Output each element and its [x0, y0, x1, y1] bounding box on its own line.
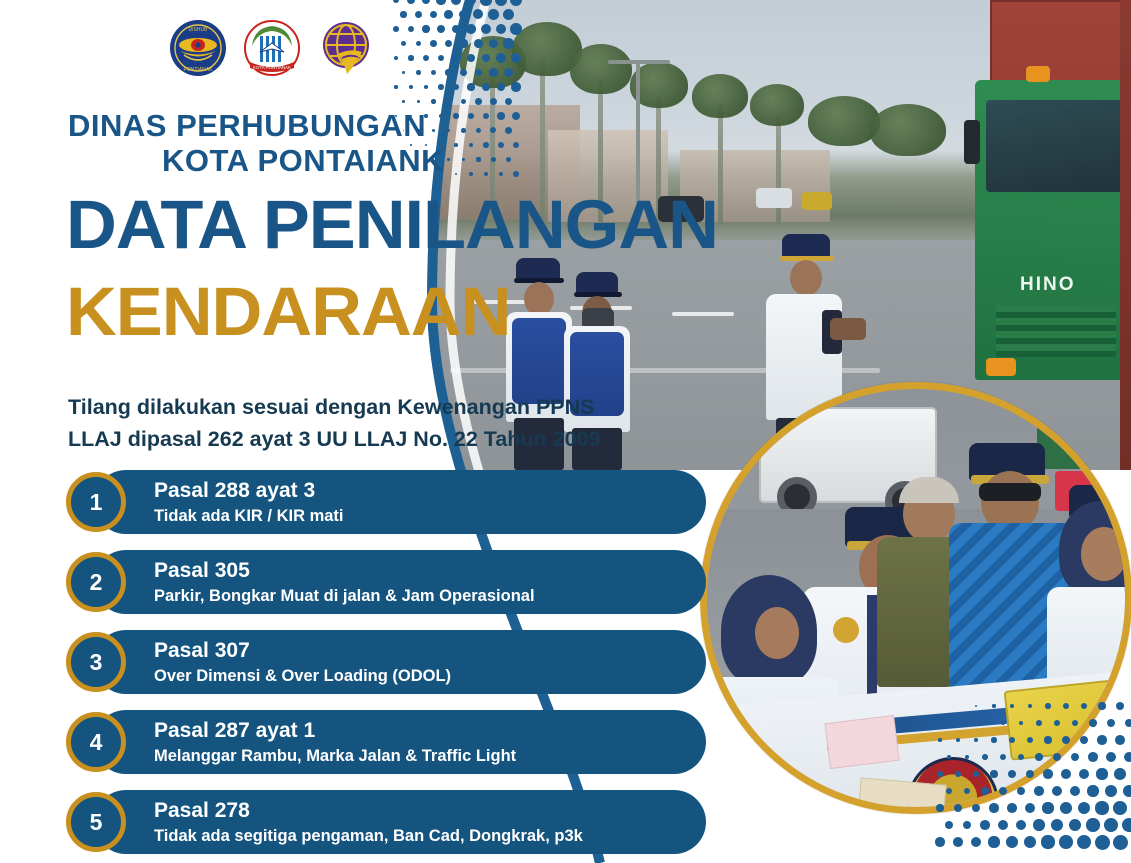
halftone-dot	[1059, 835, 1073, 849]
truck-brand-text: HINO	[1020, 274, 1076, 296]
organisation-name: DINAS PERHUBUNGAN KOTA PONTAIANK	[68, 108, 628, 178]
halftone-dot	[956, 738, 960, 742]
violation-description: Parkir, Bongkar Muat di jalan & Jam Oper…	[154, 586, 694, 607]
halftone-dot	[935, 837, 944, 846]
halftone-dot	[1034, 786, 1043, 795]
halftone-dot	[1098, 702, 1105, 709]
halftone-dot	[1069, 819, 1082, 832]
kota-pontianak-seal-icon: KOTA PONTIANAK	[242, 18, 302, 78]
violation-text: Pasal 305 Parkir, Bongkar Muat di jalan …	[154, 559, 694, 607]
halftone-dot	[1009, 737, 1015, 743]
halftone-dot	[1086, 818, 1099, 831]
halftone-dot	[964, 788, 971, 795]
page-title-line-1: DATA PENILANGAN	[66, 192, 718, 258]
dishub-patroli-emblem-icon: DISHUB PONTIANAK	[168, 18, 228, 78]
halftone-dot	[1025, 803, 1035, 813]
halftone-dot	[1113, 835, 1128, 850]
halftone-dot	[1054, 720, 1060, 726]
violation-pasal: Pasal 307	[154, 639, 694, 664]
halftone-dot	[1060, 802, 1072, 814]
halftone-dot	[992, 704, 995, 707]
halftone-dot	[953, 837, 963, 847]
halftone-dot	[1123, 785, 1131, 798]
poster-canvas: HINO	[0, 0, 1131, 863]
halftone-dot	[1125, 719, 1131, 728]
violation-description: Over Dimensi & Over Loading (ODOL)	[154, 666, 694, 687]
halftone-dot	[947, 755, 951, 759]
halftone-dot	[1008, 770, 1016, 778]
violation-description: Tidak ada KIR / KIR mati	[154, 506, 694, 527]
halftone-dot	[1045, 703, 1050, 708]
halftone-dot	[1089, 719, 1097, 727]
subtitle-line-1: Tilang dilakukan sesuai dengan Kewenanga…	[68, 392, 693, 424]
subtitle-line-2: LLAJ dipasal 262 ayat 3 UU LLAJ No. 22 T…	[68, 424, 693, 456]
halftone-dot	[1027, 737, 1034, 744]
violation-number-badge: 4	[66, 712, 126, 772]
halftone-dot	[1106, 752, 1116, 762]
halftone-dot	[955, 771, 961, 777]
violation-text: Pasal 287 ayat 1 Melanggar Rambu, Marka …	[154, 719, 694, 767]
halftone-dot	[1105, 785, 1117, 797]
content-layer: DISHUB PONTIANAK KO	[0, 0, 760, 863]
violation-pasal: Pasal 288 ayat 3	[154, 479, 694, 504]
halftone-dot	[1070, 786, 1081, 797]
perhubungan-globe-emblem-icon	[316, 18, 376, 78]
halftone-dot	[1042, 802, 1053, 813]
halftone-dot	[975, 705, 978, 708]
halftone-dot	[1122, 818, 1131, 833]
halftone-dot	[1044, 736, 1051, 743]
halftone-dot	[966, 722, 969, 725]
halftone-dot	[1036, 720, 1042, 726]
violation-text: Pasal 288 ayat 3 Tidak ada KIR / KIR mat…	[154, 479, 694, 527]
halftone-dot	[1078, 802, 1090, 814]
halftone-dot	[1010, 704, 1014, 708]
halftone-dot	[954, 804, 962, 812]
violation-number-badge: 3	[66, 632, 126, 692]
list-item: 2 Pasal 305 Parkir, Bongkar Muat di jala…	[66, 550, 706, 614]
halftone-dot	[1063, 703, 1069, 709]
halftone-dot	[1001, 721, 1005, 725]
halftone-dot	[937, 771, 942, 776]
list-item: 5 Pasal 278 Tidak ada segitiga pengaman,…	[66, 790, 706, 854]
halftone-dot	[1035, 753, 1043, 761]
violation-number-badge: 5	[66, 792, 126, 852]
halftone-dot	[1051, 819, 1063, 831]
halftone-dot	[1124, 752, 1131, 763]
halftone-dot	[945, 821, 953, 829]
halftone-dot	[1007, 803, 1017, 813]
halftone-dot	[980, 820, 989, 829]
violation-list: 1 Pasal 288 ayat 3 Tidak ada KIR / KIR m…	[66, 470, 706, 863]
halftone-dot	[1006, 836, 1018, 848]
halftone-dot	[1114, 768, 1126, 780]
halftone-dot	[998, 820, 1008, 830]
halftone-dot	[1107, 719, 1115, 727]
violation-number-badge: 1	[66, 472, 126, 532]
halftone-dot	[1115, 735, 1125, 745]
halftone-dot	[1088, 752, 1097, 761]
halftone-dot	[1061, 769, 1071, 779]
violation-description: Tidak ada segitiga pengaman, Ban Cad, Do…	[154, 826, 694, 847]
halftone-dot	[981, 787, 989, 795]
halftone-dot	[989, 803, 998, 812]
halftone-dot	[1071, 753, 1080, 762]
halftone-dot	[999, 787, 1007, 795]
halftone-dot	[1052, 786, 1062, 796]
halftone-dot	[1024, 836, 1036, 848]
violation-text: Pasal 307 Over Dimensi & Over Loading (O…	[154, 639, 694, 687]
halftone-dot	[1028, 704, 1033, 709]
violation-description: Melanggar Rambu, Marka Jalan & Traffic L…	[154, 746, 694, 767]
org-line-2: KOTA PONTAIANK	[68, 143, 628, 178]
halftone-dot	[936, 804, 943, 811]
halftone-dot	[946, 788, 952, 794]
svg-text:KOTA PONTIANAK: KOTA PONTIANAK	[253, 65, 291, 70]
halftone-dot	[1096, 768, 1107, 779]
halftone-dot	[965, 755, 970, 760]
halftone-dot	[990, 770, 997, 777]
halftone-dot	[1019, 721, 1024, 726]
halftone-dot	[1095, 835, 1110, 850]
halftone-dot	[1095, 801, 1108, 814]
org-line-1: DINAS PERHUBUNGAN	[68, 108, 426, 143]
violation-pasal: Pasal 278	[154, 799, 694, 824]
halftone-dot	[1043, 769, 1052, 778]
halftone-dot	[1033, 819, 1044, 830]
halftone-dot	[1113, 801, 1127, 815]
halftone-dot-pattern	[940, 706, 1131, 863]
subtitle-text: Tilang dilakukan sesuai dengan Kewenanga…	[68, 392, 693, 455]
halftone-dot	[1081, 703, 1088, 710]
svg-text:DISHUB: DISHUB	[189, 27, 209, 33]
halftone-dot	[1104, 818, 1118, 832]
violation-pasal: Pasal 287 ayat 1	[154, 719, 694, 744]
halftone-dot	[982, 754, 988, 760]
violation-text: Pasal 278 Tidak ada segitiga pengaman, B…	[154, 799, 694, 847]
list-item: 4 Pasal 287 ayat 1 Melanggar Rambu, Mark…	[66, 710, 706, 774]
halftone-dot	[1116, 702, 1124, 710]
halftone-dot	[973, 771, 980, 778]
violation-pasal: Pasal 305	[154, 559, 694, 584]
halftone-dot	[971, 837, 981, 847]
halftone-dot	[972, 804, 981, 813]
svg-text:PONTIANAK: PONTIANAK	[184, 67, 214, 73]
halftone-dot	[1062, 736, 1070, 744]
halftone-dot	[1026, 770, 1035, 779]
page-title-line-2: KENDARAAN	[66, 279, 510, 345]
list-item: 1 Pasal 288 ayat 3 Tidak ada KIR / KIR m…	[66, 470, 706, 534]
halftone-dot	[1041, 835, 1054, 848]
halftone-dot	[948, 722, 950, 724]
halftone-dot	[1080, 736, 1089, 745]
halftone-dot	[1072, 720, 1079, 727]
halftone-dot	[963, 821, 972, 830]
violation-number-badge: 2	[66, 552, 126, 612]
halftone-dot	[1079, 769, 1089, 779]
halftone-dot	[938, 738, 941, 741]
halftone-dot	[1053, 753, 1061, 761]
halftone-dot	[1000, 754, 1006, 760]
halftone-dot	[974, 738, 979, 743]
halftone-dot	[983, 721, 987, 725]
halftone-dot	[991, 737, 996, 742]
logo-group: DISHUB PONTIANAK KO	[168, 18, 376, 78]
halftone-dot	[1097, 735, 1106, 744]
halftone-dot	[1087, 785, 1098, 796]
halftone-dot	[988, 836, 999, 847]
halftone-dot	[1017, 787, 1026, 796]
halftone-dot	[1016, 820, 1027, 831]
list-item: 3 Pasal 307 Over Dimensi & Over Loading …	[66, 630, 706, 694]
halftone-dot	[1018, 754, 1025, 761]
halftone-dot	[1077, 835, 1091, 849]
